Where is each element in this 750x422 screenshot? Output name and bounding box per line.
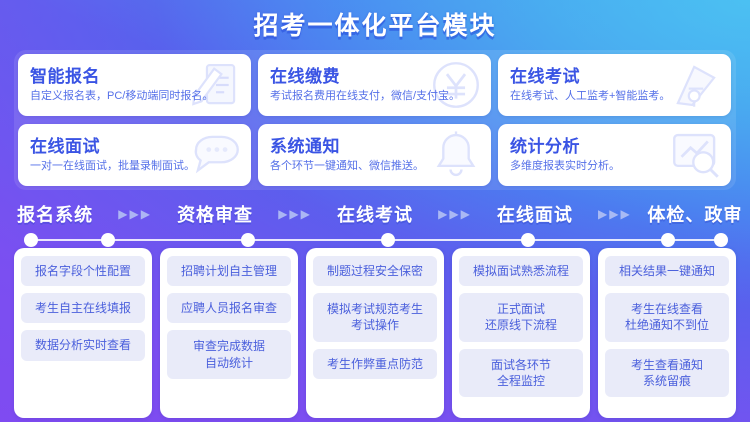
detail-column: 报名字段个性配置 考生自主在线填报 数据分析实时查看 bbox=[14, 248, 152, 418]
module-desc: 自定义报名表，PC/移动端同时报名。 bbox=[30, 90, 239, 103]
detail-item[interactable]: 数据分析实时查看 bbox=[21, 330, 145, 360]
detail-item[interactable]: 考生自主在线填报 bbox=[21, 293, 145, 323]
module-title: 智能报名 bbox=[30, 62, 239, 87]
detail-item[interactable]: 相关结果一键通知 bbox=[605, 256, 729, 286]
detail-column: 招聘计划自主管理 应聘人员报名审查 审查完成数据 自动统计 bbox=[160, 248, 298, 418]
flow-arrow-icon: ▶▶▶ bbox=[110, 207, 160, 221]
detail-columns: 报名字段个性配置 考生自主在线填报 数据分析实时查看 招聘计划自主管理 应聘人员… bbox=[14, 248, 736, 418]
module-title: 在线缴费 bbox=[270, 62, 479, 87]
module-desc: 一对一在线面试，批量录制面试。 bbox=[30, 160, 239, 173]
module-desc: 考试报名费用在线支付，微信/支付宝。 bbox=[270, 90, 479, 103]
module-title: 在线考试 bbox=[510, 62, 719, 87]
timeline-line bbox=[30, 239, 720, 241]
detail-item[interactable]: 制题过程安全保密 bbox=[313, 256, 437, 286]
module-title: 在线面试 bbox=[30, 132, 239, 157]
modules-card-grid: 智能报名 自定义报名表，PC/移动端同时报名。 在线缴费 考试报名费用在线支付，… bbox=[18, 54, 732, 186]
module-desc: 多维度报表实时分析。 bbox=[510, 160, 719, 173]
module-card[interactable]: 在线缴费 考试报名费用在线支付，微信/支付宝。 bbox=[258, 54, 491, 116]
module-title: 统计分析 bbox=[510, 132, 719, 157]
timeline-dot bbox=[521, 233, 535, 247]
module-desc: 各个环节一键通知、微信推送。 bbox=[270, 160, 479, 173]
module-card[interactable]: 在线考试 在线考试、人工监考+智能监考。 bbox=[498, 54, 731, 116]
timeline-dot bbox=[714, 233, 728, 247]
infographic-stage: 招考一体化平台模块 智能报名 自定义报名表，PC/移动端同时报名。 bbox=[0, 0, 750, 422]
detail-item[interactable]: 审查完成数据 自动统计 bbox=[167, 330, 291, 378]
flow-step-label: 在线面试 bbox=[480, 201, 590, 227]
page-title: 招考一体化平台模块 bbox=[0, 0, 750, 46]
flow-arrow-icon: ▶▶▶ bbox=[590, 207, 640, 221]
detail-column: 相关结果一键通知 考生在线查看 杜绝通知不到位 考生查看通知 系统留痕 bbox=[598, 248, 736, 418]
detail-item[interactable]: 报名字段个性配置 bbox=[21, 256, 145, 286]
flow-step-label: 在线考试 bbox=[320, 201, 430, 227]
flow-step-label: 报名系统 bbox=[0, 201, 110, 227]
module-card[interactable]: 系统通知 各个环节一键通知、微信推送。 bbox=[258, 124, 491, 186]
flow-arrow-icon: ▶▶▶ bbox=[430, 207, 480, 221]
timeline-dot bbox=[381, 233, 395, 247]
process-flow-strip: 报名系统 ▶▶▶ 资格审查 ▶▶▶ 在线考试 ▶▶▶ 在线面试 ▶▶▶ 体检、政… bbox=[0, 196, 750, 232]
module-desc: 在线考试、人工监考+智能监考。 bbox=[510, 90, 719, 103]
detail-item[interactable]: 考生作弊重点防范 bbox=[313, 349, 437, 379]
timeline-dot bbox=[241, 233, 255, 247]
timeline bbox=[0, 232, 750, 248]
module-card[interactable]: 在线面试 一对一在线面试，批量录制面试。 bbox=[18, 124, 251, 186]
detail-item[interactable]: 面试各环节 全程监控 bbox=[459, 349, 583, 397]
timeline-dot bbox=[101, 233, 115, 247]
detail-item[interactable]: 模拟面试熟悉流程 bbox=[459, 256, 583, 286]
detail-item[interactable]: 考生在线查看 杜绝通知不到位 bbox=[605, 293, 729, 341]
detail-column: 模拟面试熟悉流程 正式面试 还原线下流程 面试各环节 全程监控 bbox=[452, 248, 590, 418]
detail-item[interactable]: 招聘计划自主管理 bbox=[167, 256, 291, 286]
timeline-dot bbox=[661, 233, 675, 247]
detail-item[interactable]: 正式面试 还原线下流程 bbox=[459, 293, 583, 341]
detail-item[interactable]: 应聘人员报名审查 bbox=[167, 293, 291, 323]
detail-item[interactable]: 模拟考试规范考生 考试操作 bbox=[313, 293, 437, 341]
module-title: 系统通知 bbox=[270, 132, 479, 157]
flow-arrow-icon: ▶▶▶ bbox=[270, 207, 320, 221]
flow-step-label: 体检、政审 bbox=[640, 201, 750, 227]
detail-item[interactable]: 考生查看通知 系统留痕 bbox=[605, 349, 729, 397]
module-card[interactable]: 统计分析 多维度报表实时分析。 bbox=[498, 124, 731, 186]
flow-step-label: 资格审查 bbox=[160, 201, 270, 227]
module-card[interactable]: 智能报名 自定义报名表，PC/移动端同时报名。 bbox=[18, 54, 251, 116]
detail-column: 制题过程安全保密 模拟考试规范考生 考试操作 考生作弊重点防范 bbox=[306, 248, 444, 418]
timeline-dot bbox=[24, 233, 38, 247]
